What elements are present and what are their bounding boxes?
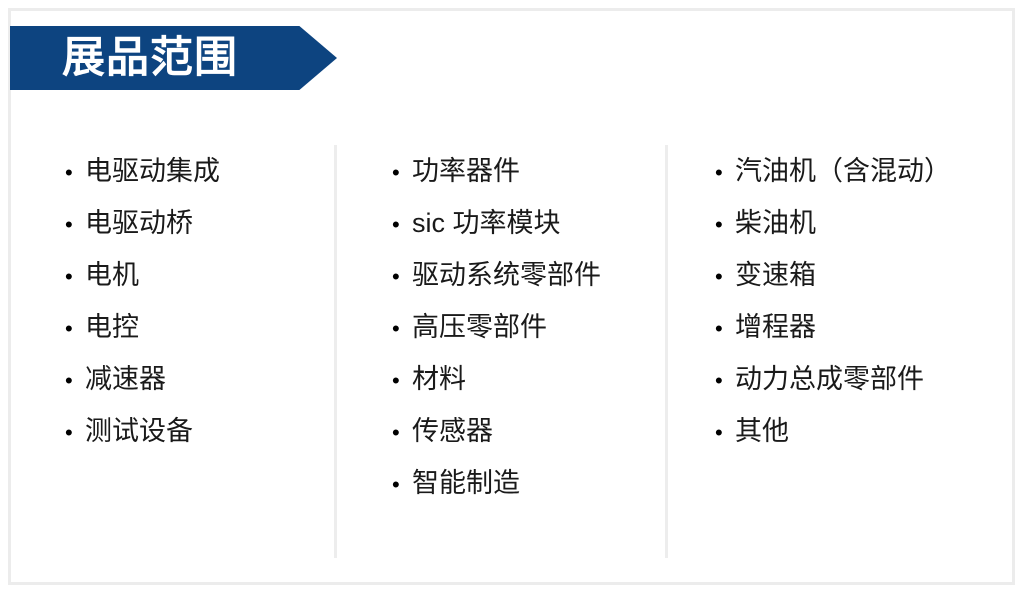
list-item-label: 减速器 (85, 353, 166, 405)
list-item-label: 电驱动桥 (85, 197, 193, 249)
exhibit-column-2: • 功率器件 • sic 功率模块 • 驱动系统零部件 • 高压零部件 • (392, 145, 664, 560)
bullet-icon: • (65, 355, 85, 407)
list-item-label: 高压零部件 (412, 301, 547, 353)
list-item-label: 柴油机 (735, 197, 816, 249)
bullet-icon: • (392, 303, 412, 355)
slide-canvas: 展品范围 • 电驱动集成 • 电驱动桥 • 电机 • (0, 0, 1025, 597)
bullet-icon: • (392, 251, 412, 303)
exhibit-list-1: • 电驱动集成 • 电驱动桥 • 电机 • 电控 • 减速器 (65, 145, 335, 457)
exhibit-list-2: • 功率器件 • sic 功率模块 • 驱动系统零部件 • 高压零部件 • (392, 145, 664, 509)
list-item[interactable]: • 传感器 (392, 405, 664, 457)
list-item[interactable]: • 高压零部件 (392, 301, 664, 353)
bullet-icon: • (715, 147, 735, 199)
list-item-label: 增程器 (735, 301, 816, 353)
list-item-label: 智能制造 (412, 457, 520, 509)
list-item-label: 电驱动集成 (85, 145, 220, 197)
list-item-label: 驱动系统零部件 (412, 249, 601, 301)
bullet-icon: • (65, 147, 85, 199)
list-item[interactable]: • 材料 (392, 353, 664, 405)
list-item[interactable]: • 电机 (65, 249, 335, 301)
bullet-icon: • (392, 355, 412, 407)
list-item-label: 电控 (85, 301, 139, 353)
bullet-icon: • (715, 251, 735, 303)
list-item[interactable]: • 汽油机（含混动） (715, 145, 1005, 197)
bullet-icon: • (65, 199, 85, 251)
bullet-icon: • (392, 459, 412, 511)
list-item-label: 测试设备 (85, 405, 193, 457)
list-item-label: 变速箱 (735, 249, 816, 301)
list-item[interactable]: • sic 功率模块 (392, 197, 664, 249)
list-item-label: 动力总成零部件 (735, 353, 924, 405)
list-item-label: 功率器件 (412, 145, 520, 197)
section-header-banner: 展品范围 (10, 26, 337, 90)
list-item[interactable]: • 智能制造 (392, 457, 664, 509)
page-title: 展品范围 (62, 37, 238, 80)
list-item-label: 电机 (85, 249, 139, 301)
list-item[interactable]: • 电驱动桥 (65, 197, 335, 249)
exhibit-scope-columns: • 电驱动集成 • 电驱动桥 • 电机 • 电控 • 减速器 (10, 145, 1010, 560)
exhibit-column-1: • 电驱动集成 • 电驱动桥 • 电机 • 电控 • 减速器 (65, 145, 335, 560)
exhibit-list-3: • 汽油机（含混动） • 柴油机 • 变速箱 • 增程器 • 动力总成零部件 (715, 145, 1005, 457)
list-item[interactable]: • 功率器件 (392, 145, 664, 197)
exhibit-column-3: • 汽油机（含混动） • 柴油机 • 变速箱 • 增程器 • 动力总成零部件 (715, 145, 1005, 560)
list-item[interactable]: • 动力总成零部件 (715, 353, 1005, 405)
list-item[interactable]: • 减速器 (65, 353, 335, 405)
bullet-icon: • (65, 251, 85, 303)
list-item[interactable]: • 其他 (715, 405, 1005, 457)
list-item-label: 汽油机（含混动） (735, 145, 951, 197)
list-item[interactable]: • 变速箱 (715, 249, 1005, 301)
list-item-label: 材料 (412, 353, 466, 405)
list-item[interactable]: • 增程器 (715, 301, 1005, 353)
list-item[interactable]: • 测试设备 (65, 405, 335, 457)
bullet-icon: • (715, 355, 735, 407)
bullet-icon: • (65, 407, 85, 459)
list-item-label: 其他 (735, 405, 789, 457)
bullet-icon: • (392, 199, 412, 251)
list-item[interactable]: • 电驱动集成 (65, 145, 335, 197)
bullet-icon: • (392, 407, 412, 459)
list-item[interactable]: • 驱动系统零部件 (392, 249, 664, 301)
bullet-icon: • (715, 303, 735, 355)
list-item[interactable]: • 柴油机 (715, 197, 1005, 249)
bullet-icon: • (715, 407, 735, 459)
bullet-icon: • (392, 147, 412, 199)
column-divider-2 (665, 145, 668, 558)
list-item[interactable]: • 电控 (65, 301, 335, 353)
bullet-icon: • (715, 199, 735, 251)
bullet-icon: • (65, 303, 85, 355)
list-item-label: 传感器 (412, 405, 493, 457)
list-item-label: sic 功率模块 (412, 197, 561, 249)
